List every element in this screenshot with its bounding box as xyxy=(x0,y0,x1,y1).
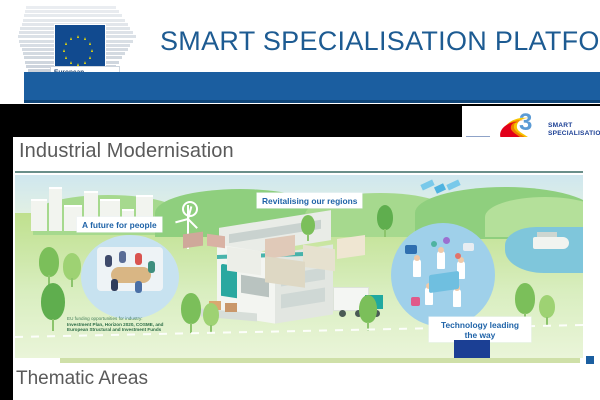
svg-text:3: 3 xyxy=(519,109,532,136)
tree xyxy=(539,295,555,325)
bottom-strip xyxy=(60,358,580,363)
satellite-icon xyxy=(419,179,461,199)
person xyxy=(135,281,142,293)
person xyxy=(111,279,118,291)
tech-node xyxy=(455,253,461,259)
label-revitalising-our-regions: Revitalising our regions xyxy=(257,193,362,208)
house xyxy=(183,232,203,249)
tree xyxy=(203,303,219,333)
tech-screen xyxy=(405,245,417,254)
footnote-line3: European Structural and Investment Funds xyxy=(67,327,164,333)
tech-node xyxy=(431,241,437,247)
house xyxy=(207,234,225,249)
thematic-areas-heading: Thematic Areas xyxy=(16,368,148,390)
cargo-ship xyxy=(533,237,569,249)
tree xyxy=(181,293,201,333)
label-future-for-people: A future for people xyxy=(77,217,162,232)
label-technology-leading-the-way: Technology leading the way xyxy=(429,317,531,342)
slide-page: European Commission SMART SPECIALISATION… xyxy=(0,0,600,400)
left-margin-bar xyxy=(0,104,13,400)
warehouse xyxy=(265,235,295,259)
tree xyxy=(41,283,65,331)
funding-footnote: EU funding opportunities for industry: I… xyxy=(67,316,164,333)
tree xyxy=(377,205,393,237)
header-blue-band xyxy=(24,72,600,103)
slide-title: Industrial Modernisation xyxy=(19,140,234,163)
technology-bubble xyxy=(391,223,495,327)
s3-text-line1: SMART xyxy=(548,122,600,130)
person xyxy=(105,255,112,267)
tech-node xyxy=(443,237,450,244)
tree xyxy=(63,253,81,287)
tech-screen xyxy=(463,243,474,251)
site-header: European Commission SMART SPECIALISATION… xyxy=(0,0,600,105)
container xyxy=(337,235,365,259)
tech-node xyxy=(411,297,420,306)
tree xyxy=(359,295,377,331)
person xyxy=(135,253,142,265)
parcel xyxy=(225,303,237,312)
warehouse xyxy=(227,247,261,276)
title-underline xyxy=(15,171,583,173)
tree xyxy=(39,247,59,285)
person xyxy=(148,261,155,273)
footnote-line1: EU funding opportunities for industry: xyxy=(67,316,164,322)
person xyxy=(119,251,126,263)
bottom-accent-square xyxy=(586,356,594,364)
container xyxy=(303,245,335,271)
industrial-modernisation-illustration: factory xyxy=(15,175,583,358)
tree xyxy=(301,215,315,241)
illustration-blue-tab xyxy=(454,340,490,358)
page-title: SMART SPECIALISATION PLATFORM xyxy=(160,26,600,57)
slide-card: Industrial Modernisation xyxy=(13,137,587,362)
warehouse xyxy=(265,256,305,288)
